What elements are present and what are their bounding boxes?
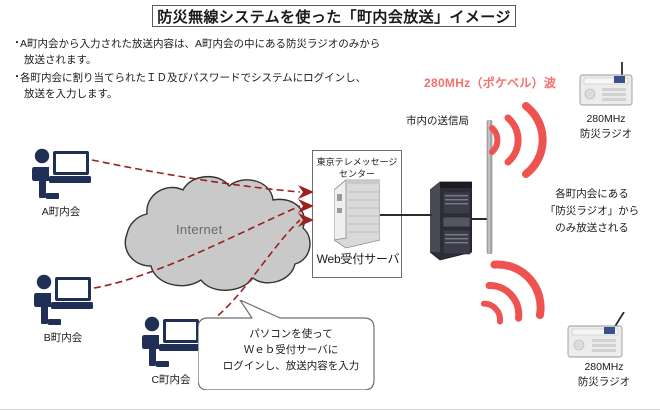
note-item: ・ A町内会から入力された放送内容は、A町内会の中にある防災ラジオのみから 放送…: [12, 36, 432, 68]
portable-radio-bottom-icon: [566, 312, 628, 362]
broadcast-note: 各町内会にある 「防災ラジオ」から のみ放送される: [528, 186, 656, 237]
note-line: A町内会から入力された放送内容は、A町内会の中にある防災ラジオのみから: [20, 36, 432, 52]
radio-label-line: 防災ラジオ: [556, 375, 652, 390]
notes-block: ・ A町内会から入力された放送内容は、A町内会の中にある防災ラジオのみから 放送…: [12, 36, 432, 104]
radio-label-line: 防災ラジオ: [560, 127, 652, 142]
web-server-caption: Web受付サーバ: [310, 250, 406, 267]
page-title: 防災無線システムを使った「町内会放送」イメージ: [152, 5, 516, 27]
note-line: 放送されます。: [20, 52, 432, 68]
bullet-marker: ・: [12, 70, 20, 86]
bubble-line: ログインし、放送内容を入力: [206, 358, 376, 374]
radio-top-label: 280MHz 防災ラジオ: [560, 112, 652, 142]
transmitter-rack-icon: [430, 178, 472, 262]
note-item: ・ 各町内会に割り当てられたＩＤ及びパスワードでシステムにログインし、 放送を入…: [12, 70, 432, 102]
radio-waves-lower-icon: [470, 238, 570, 342]
telemessage-center-title: 東京テレメッセージ センター: [316, 156, 398, 180]
bullet-marker: ・: [12, 36, 20, 52]
note-text: 各町内会に割り当てられたＩＤ及びパスワードでシステムにログインし、 放送を入力し…: [20, 70, 432, 102]
center-title-line: 東京テレメッセージ: [316, 156, 398, 168]
note-line: 放送を入力します。: [20, 86, 432, 102]
broadcast-note-line: のみ放送される: [528, 220, 656, 237]
radio-bottom-label: 280MHz 防災ラジオ: [556, 360, 652, 390]
server-to-rack-line: [380, 214, 432, 216]
wave-band-label: 280MHz（ポケベル）波: [424, 74, 556, 91]
speech-bubble-text: パソコンを使って Ｗｅｂ受付サーバに ログインし、放送内容を入力: [206, 326, 376, 374]
note-line: 各町内会に割り当てられたＩＤ及びパスワードでシステムにログインし、: [20, 70, 432, 86]
note-text: A町内会から入力された放送内容は、A町内会の中にある防災ラジオのみから 放送され…: [20, 36, 432, 68]
bubble-line: Ｗｅｂ受付サーバに: [206, 342, 376, 358]
radio-label-line: 280MHz: [556, 360, 652, 375]
transmitter-label: 市内の送信局: [406, 114, 469, 128]
radio-label-line: 280MHz: [560, 112, 652, 127]
web-server-icon: [334, 178, 380, 250]
broadcast-note-line: 各町内会にある: [528, 186, 656, 203]
portable-radio-top-icon: [578, 62, 634, 110]
diagram-canvas: 防災無線システムを使った「町内会放送」イメージ ・ A町内会から入力された放送内…: [0, 0, 660, 410]
bubble-line: パソコンを使って: [206, 326, 376, 342]
broadcast-note-line: 「防災ラジオ」から: [528, 203, 656, 220]
